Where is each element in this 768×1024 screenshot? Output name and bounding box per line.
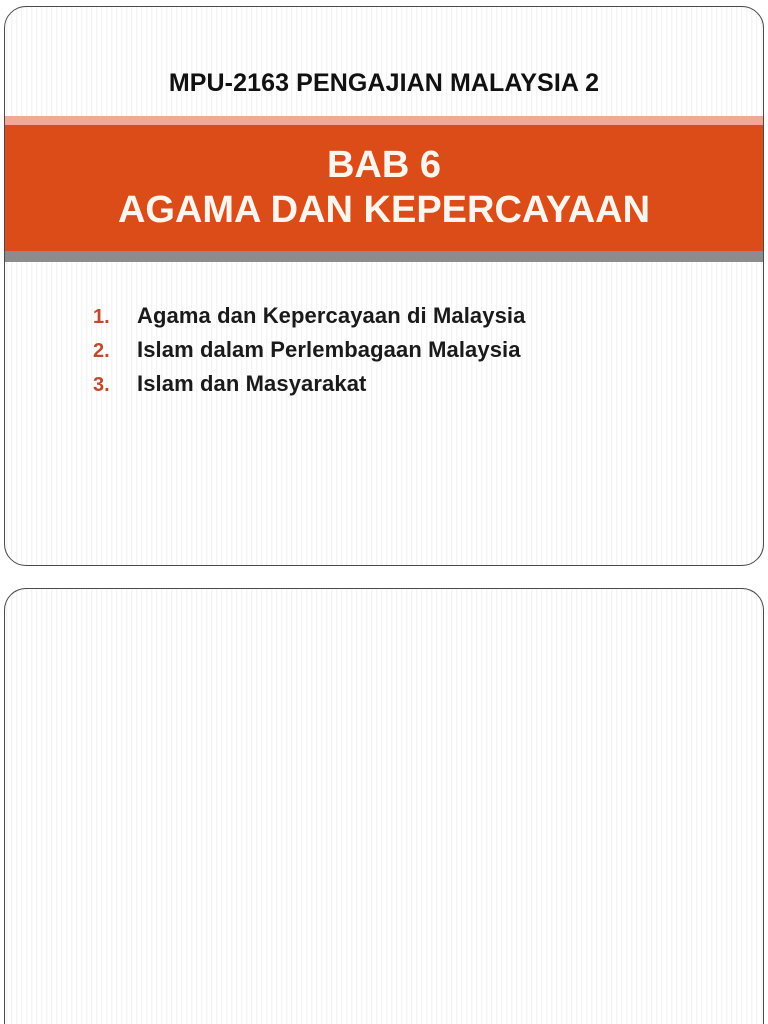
slide-1-title-banner: BAB 6 AGAMA DAN KEPERCAYAAN	[5, 116, 763, 262]
list-item: 3. Islam dan Masyarakat	[93, 371, 723, 397]
list-item-marker: 3.	[93, 374, 137, 397]
slide-deck-page: MPU-2163 PENGAJIAN MALAYSIA 2 BAB 6 AGAM…	[0, 0, 768, 1024]
list-item-label: Islam dalam Perlembagaan Malaysia	[137, 337, 521, 363]
list-item-marker: 2.	[93, 340, 137, 363]
slide-1-banner-line-2: AGAMA DAN KEPERCAYAAN	[118, 189, 650, 231]
slide-1[interactable]: MPU-2163 PENGAJIAN MALAYSIA 2 BAB 6 AGAM…	[4, 6, 764, 566]
list-item-label: Islam dan Masyarakat	[137, 371, 366, 397]
page-title: MPU-2163 PENGAJIAN MALAYSIA 2	[5, 69, 763, 98]
banner-top-accent-strip	[5, 116, 763, 125]
banner-bottom-accent-strip	[5, 251, 763, 262]
slide-2[interactable]: 1. AGAMA DAN KEPERCAYAAN DI MALAYSIA a. …	[4, 588, 764, 1024]
slide-1-banner-line-1: BAB 6	[327, 144, 441, 186]
list-item: 2. Islam dalam Perlembagaan Malaysia	[93, 337, 723, 363]
list-item: 1. Agama dan Kepercayaan di Malaysia	[93, 303, 723, 329]
slide-1-banner-text: BAB 6 AGAMA DAN KEPERCAYAAN	[31, 125, 737, 251]
slide-1-agenda-list: 1. Agama dan Kepercayaan di Malaysia 2. …	[93, 303, 723, 405]
list-item-label: Agama dan Kepercayaan di Malaysia	[137, 303, 525, 329]
list-item-marker: 1.	[93, 306, 137, 329]
